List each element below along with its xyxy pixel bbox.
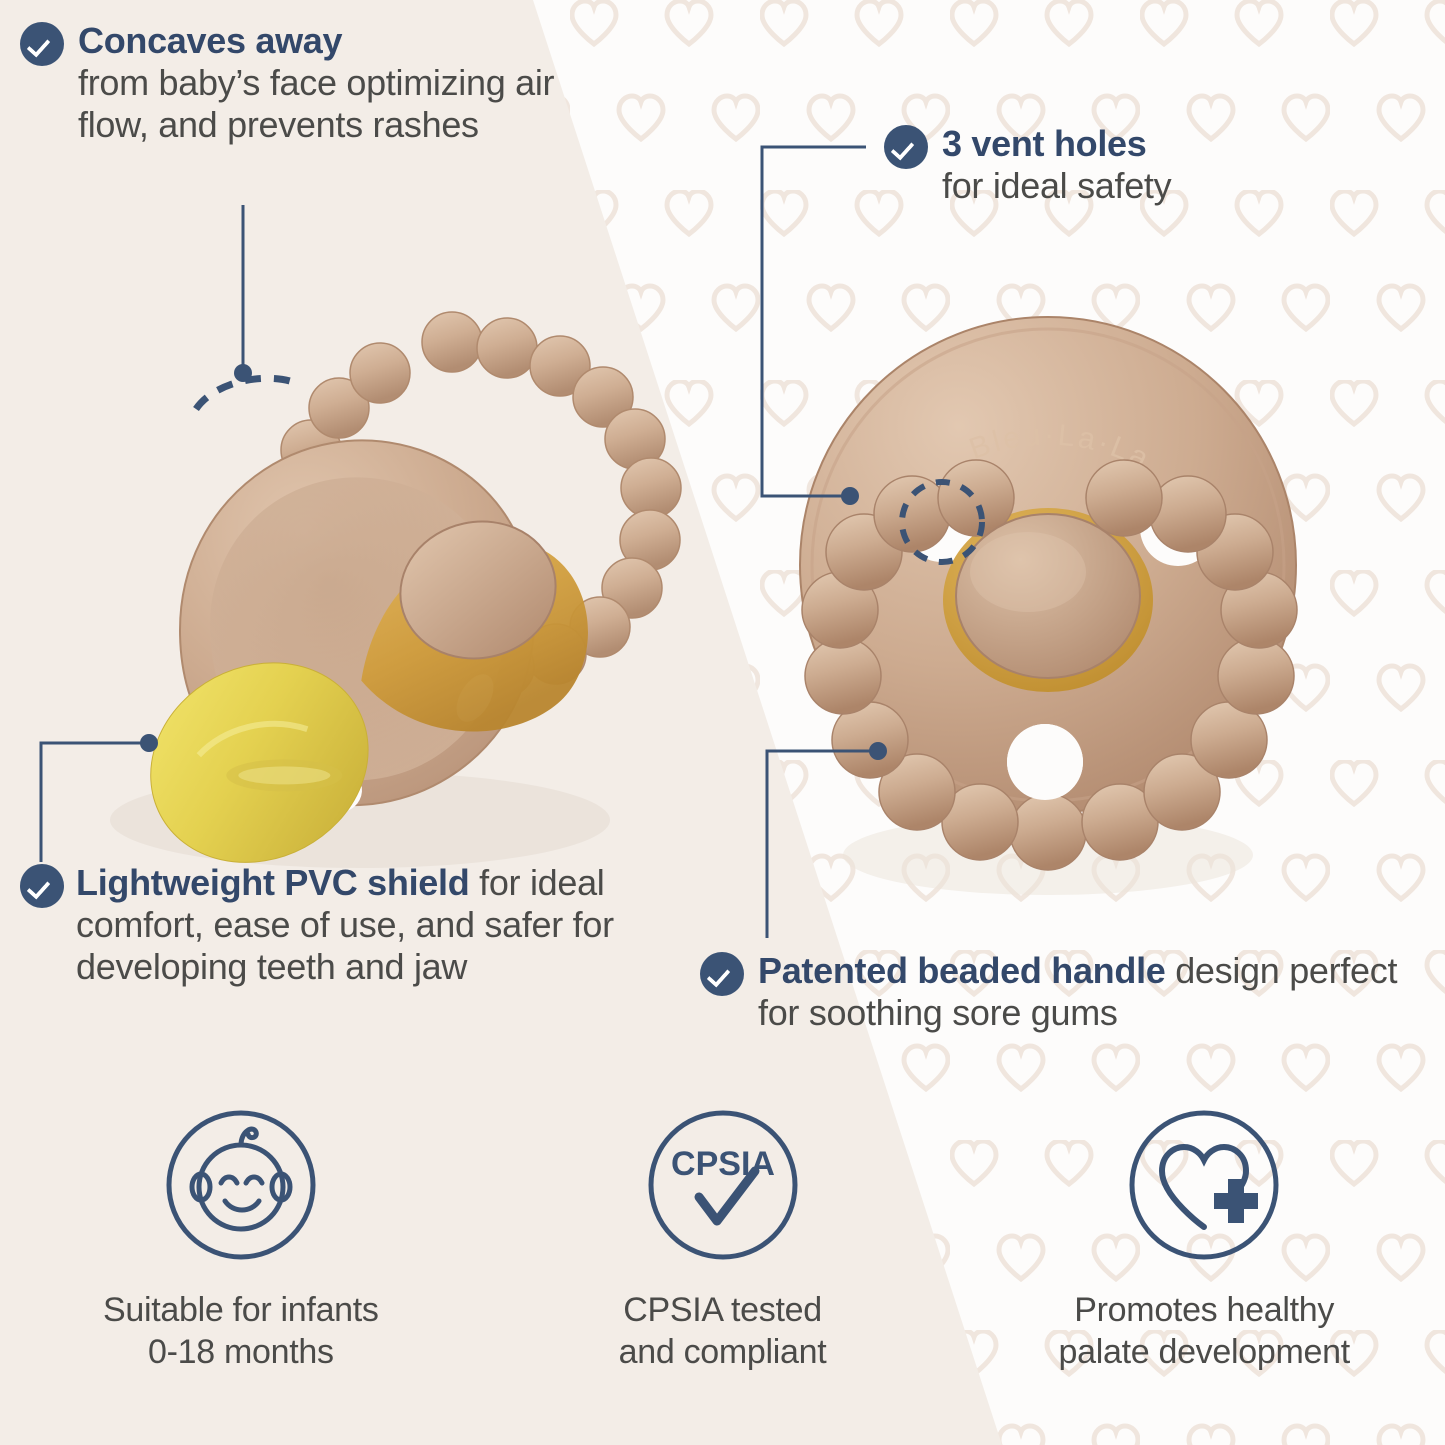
check-icon bbox=[20, 22, 64, 66]
badge-palate: Promotes healthy palate development bbox=[963, 1105, 1445, 1373]
callout-rest: for ideal safety bbox=[942, 165, 1171, 206]
callout-vent-holes: 3 vent holes for ideal safety bbox=[884, 123, 1304, 207]
pacifier-front-view: Bleu·La·La bbox=[790, 310, 1310, 920]
callout-text: Lightweight PVC shield for ideal comfort… bbox=[76, 862, 640, 988]
cpsia-label: CPSIA bbox=[671, 1145, 775, 1183]
callout-text: Patented beaded handle design perfect fo… bbox=[758, 950, 1430, 1034]
heart-plus-icon bbox=[1124, 1105, 1284, 1265]
infographic-canvas: Bleu·La·La bbox=[0, 0, 1445, 1445]
callout-text: 3 vent holes for ideal safety bbox=[942, 123, 1171, 207]
badge-caption: CPSIA tested and compliant bbox=[619, 1289, 827, 1373]
callout-bold: Patented beaded handle bbox=[758, 950, 1166, 991]
check-icon bbox=[884, 125, 928, 169]
callout-rest: from baby’s face optimizing air flow, an… bbox=[78, 62, 554, 145]
callout-pvc-shield: Lightweight PVC shield for ideal comfort… bbox=[20, 862, 640, 988]
callout-concaves-away: Concaves away from baby’s face optimizin… bbox=[20, 20, 620, 146]
callout-bold: 3 vent holes bbox=[942, 123, 1146, 164]
callout-bold: Concaves away bbox=[78, 20, 342, 61]
check-icon bbox=[700, 952, 744, 996]
badge-age-range: Suitable for infants 0-18 months bbox=[0, 1105, 482, 1373]
badge-row: Suitable for infants 0-18 months CPSIA C… bbox=[0, 1105, 1445, 1373]
pacifier-side-view bbox=[60, 300, 720, 900]
badge-caption: Suitable for infants 0-18 months bbox=[103, 1289, 379, 1373]
badge-cpsia: CPSIA CPSIA tested and compliant bbox=[482, 1105, 964, 1373]
badge-caption: Promotes healthy palate development bbox=[1058, 1289, 1349, 1373]
baby-face-icon bbox=[161, 1105, 321, 1265]
callout-text: Concaves away from baby’s face optimizin… bbox=[78, 20, 620, 146]
check-icon bbox=[20, 864, 64, 908]
callout-bold: Lightweight PVC shield bbox=[76, 862, 469, 903]
callout-beaded-handle: Patented beaded handle design perfect fo… bbox=[700, 950, 1430, 1034]
plus-icon bbox=[1214, 1179, 1258, 1223]
cpsia-check-icon: CPSIA bbox=[643, 1105, 803, 1265]
